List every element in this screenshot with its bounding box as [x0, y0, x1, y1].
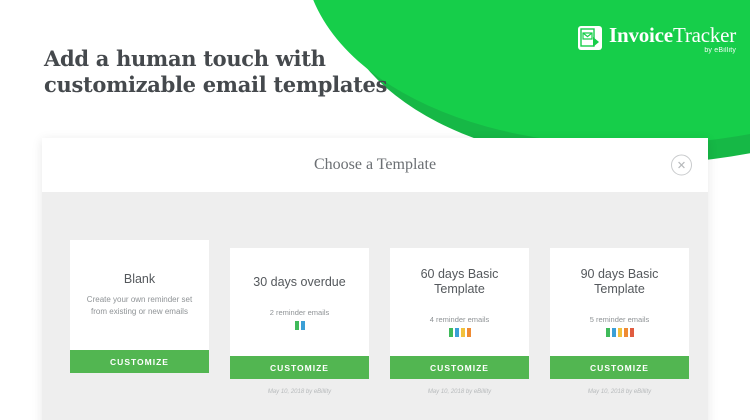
template-card-panel: 90 days Basic Template5 reminder emails [550, 248, 689, 356]
close-icon[interactable] [671, 155, 692, 176]
reminder-sequence-bars [295, 321, 305, 330]
reminder-email-count: 2 reminder emails [270, 308, 330, 317]
headline-line-1: Add a human touch with [44, 46, 326, 71]
reminder-bar [455, 328, 459, 337]
reminder-sequence-bars [606, 328, 634, 337]
customize-button[interactable]: CUSTOMIZE [230, 356, 369, 379]
reminder-bar [449, 328, 453, 337]
reminder-bar [624, 328, 628, 337]
logo-tagline: by eBillity [609, 47, 736, 54]
template-card[interactable]: BlankCreate your own reminder set from e… [70, 240, 209, 392]
customize-button[interactable]: CUSTOMIZE [390, 356, 529, 379]
reminder-bar [461, 328, 465, 337]
reminder-email-count: 4 reminder emails [430, 315, 490, 324]
choose-template-modal: Choose a Template BlankCreate your own r… [42, 138, 708, 420]
modal-body: BlankCreate your own reminder set from e… [42, 192, 708, 420]
modal-title: Choose a Template [314, 156, 436, 174]
customize-button[interactable]: CUSTOMIZE [70, 350, 209, 373]
customize-button[interactable]: CUSTOMIZE [550, 356, 689, 379]
template-card-title: Blank [124, 272, 155, 287]
reminder-bar [301, 321, 305, 330]
template-card-list: BlankCreate your own reminder set from e… [70, 192, 680, 398]
template-card[interactable]: 90 days Basic Template5 reminder emailsC… [550, 248, 689, 398]
logo-name: InvoiceTracker [609, 24, 736, 46]
reminder-bar [606, 328, 610, 337]
logo-wordmark: InvoiceTracker by eBillity [609, 24, 736, 54]
modal-header: Choose a Template [42, 138, 708, 192]
page-headline: Add a human touch with customizable emai… [44, 46, 387, 98]
template-card-date [70, 383, 209, 392]
headline-line-2: customizable email templates [44, 72, 387, 97]
template-card-title: 60 days Basic Template [400, 267, 519, 297]
template-card-date: May 10, 2018 by eBillity [230, 389, 369, 398]
reminder-bar [618, 328, 622, 337]
template-card[interactable]: 60 days Basic Template4 reminder emailsC… [390, 248, 529, 398]
template-card-date: May 10, 2018 by eBillity [390, 389, 529, 398]
reminder-bar [295, 321, 299, 330]
reminder-email-count: 5 reminder emails [590, 315, 650, 324]
template-card-panel: BlankCreate your own reminder set from e… [70, 240, 209, 350]
page-root: InvoiceTracker by eBillity Add a human t… [0, 0, 750, 420]
reminder-bar [630, 328, 634, 337]
reminder-bar [467, 328, 471, 337]
template-card[interactable]: 30 days overdue2 reminder emailsCUSTOMIZ… [230, 248, 369, 398]
template-card-date: May 10, 2018 by eBillity [550, 389, 689, 398]
invoicetracker-logo: InvoiceTracker by eBillity [578, 24, 736, 54]
template-card-description: Create your own reminder set from existi… [80, 294, 199, 318]
template-card-panel: 30 days overdue2 reminder emails [230, 248, 369, 356]
logo-envelope-icon [578, 26, 602, 50]
template-card-panel: 60 days Basic Template4 reminder emails [390, 248, 529, 356]
template-card-title: 30 days overdue [253, 275, 345, 290]
reminder-sequence-bars [449, 328, 471, 337]
template-card-title: 90 days Basic Template [560, 267, 679, 297]
reminder-bar [612, 328, 616, 337]
